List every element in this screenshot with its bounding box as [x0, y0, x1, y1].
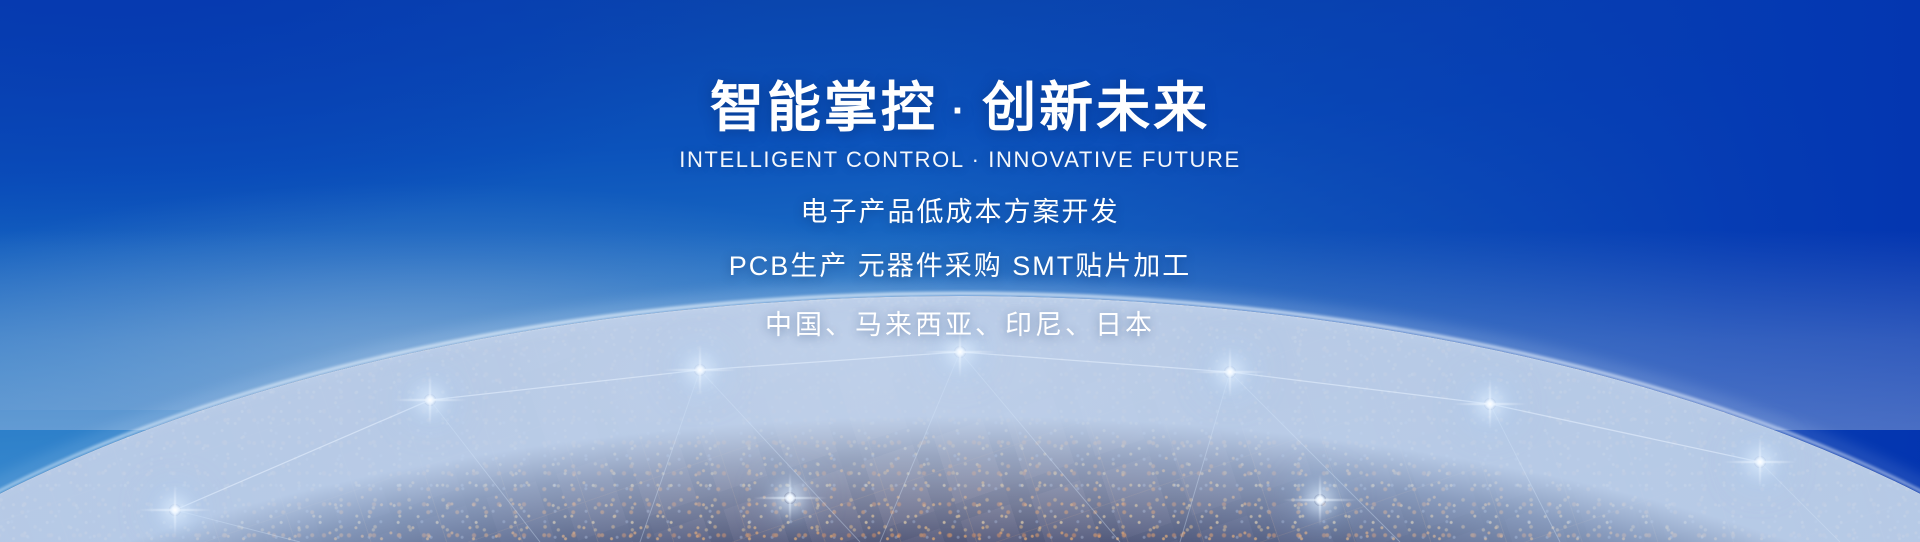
- headline-separator-dot: ·: [938, 89, 982, 133]
- service-line-development: 电子产品低成本方案开发: [0, 199, 1920, 226]
- service-lines: 电子产品低成本方案开发 PCB生产 元器件采购 SMT贴片加工 中国、马来西亚、…: [0, 199, 1920, 339]
- subtitle-english: INTELLIGENT CONTROL · INNOVATIVE FUTURE: [0, 147, 1920, 173]
- page-title: 智能掌控·创新未来: [0, 78, 1920, 138]
- headline-part-2: 创新未来: [982, 78, 1210, 138]
- headline-part-1: 智能掌控: [710, 78, 938, 138]
- banner-copy: 智能掌控·创新未来 INTELLIGENT CONTROL · INNOVATI…: [0, 0, 1920, 339]
- service-line-regions: 中国、马来西亚、印尼、日本: [0, 312, 1920, 339]
- service-line-manufacturing: PCB生产 元器件采购 SMT贴片加工: [0, 253, 1920, 280]
- hero-banner: 智能掌控·创新未来 INTELLIGENT CONTROL · INNOVATI…: [0, 0, 1920, 542]
